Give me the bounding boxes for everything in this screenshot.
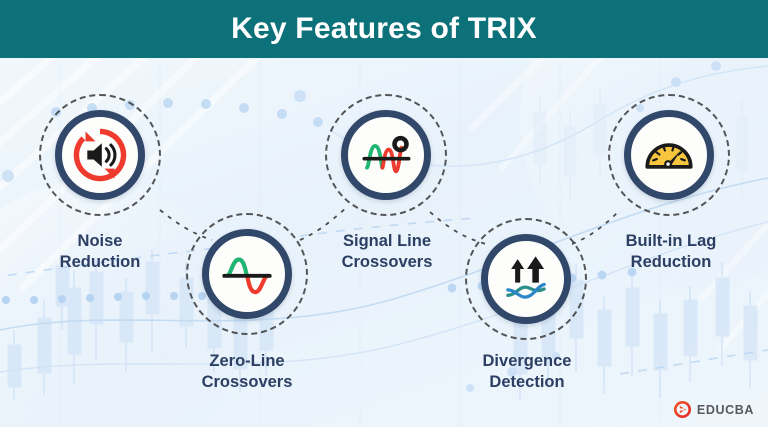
icon-circle <box>624 110 714 200</box>
feature-node-signal-line-crossovers[interactable] <box>325 94 447 216</box>
zero-line-wave-icon <box>218 245 276 303</box>
feature-node-noise-reduction[interactable] <box>39 94 161 216</box>
feature-label-built-in-lag-reduction: Built-in Lag Reduction <box>593 231 749 273</box>
feature-label-signal-line-crossovers: Signal Line Crossovers <box>311 231 463 273</box>
divergence-arrows-icon <box>497 250 555 308</box>
feature-label-zero-line-crossovers: Zero-Line Crossovers <box>172 351 322 393</box>
icon-circle <box>55 110 145 200</box>
signal-crossover-icon <box>357 126 415 184</box>
feature-node-built-in-lag-reduction[interactable] <box>608 94 730 216</box>
feature-node-zero-line-crossovers[interactable] <box>186 213 308 335</box>
icon-circle <box>481 234 571 324</box>
educba-logo[interactable]: EDUCBA <box>673 400 754 419</box>
icon-circle <box>202 229 292 319</box>
educba-brand-text: EDUCBA <box>697 403 754 417</box>
infographic-canvas: Key Features of TRIX Noise Reduction <box>0 0 768 427</box>
feature-label-divergence-detection: Divergence Detection <box>451 351 603 393</box>
page-title: Key Features of TRIX <box>231 14 537 44</box>
icon-circle <box>341 110 431 200</box>
speedometer-icon <box>640 126 698 184</box>
header-bar: Key Features of TRIX <box>0 0 768 58</box>
feature-label-noise-reduction: Noise Reduction <box>25 231 175 273</box>
muted-speaker-icon <box>71 126 129 184</box>
educba-e-logo-icon <box>673 400 692 419</box>
feature-node-divergence-detection[interactable] <box>465 218 587 340</box>
